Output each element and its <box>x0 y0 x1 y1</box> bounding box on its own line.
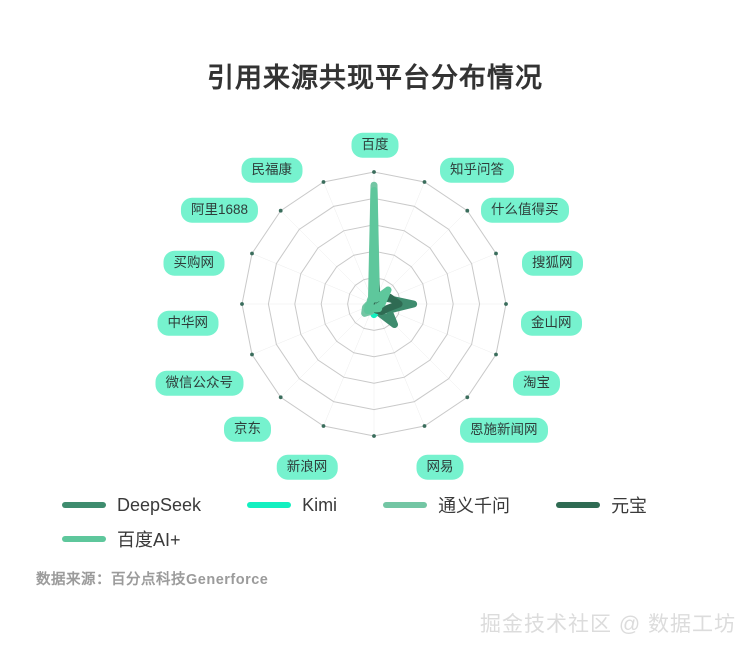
radar-series-百度AI+ <box>367 190 388 310</box>
radar-axis-label-新浪网: 新浪网 <box>277 455 338 480</box>
legend-item-百度AI+[interactable]: 百度AI+ <box>62 526 181 552</box>
radar-axis-label-民福康: 民福康 <box>242 158 303 183</box>
radar-axis-label-网易: 网易 <box>417 455 464 480</box>
legend-item-通义千问[interactable]: 通义千问 <box>383 492 510 518</box>
legend-item-Kimi[interactable]: Kimi <box>247 495 337 516</box>
radar-axis-label-淘宝: 淘宝 <box>513 371 560 396</box>
radar-axis-label-中华网: 中华网 <box>158 311 219 336</box>
legend-swatch-icon <box>383 502 427 508</box>
radar-axis-vertex-dot <box>465 209 469 213</box>
radar-axis-vertex-dot <box>279 209 283 213</box>
radar-axis-label-知乎问答: 知乎问答 <box>440 158 514 183</box>
radar-chart: 百度知乎问答什么值得买搜狐网金山网淘宝恩施新闻网网易新浪网京东微信公众号中华网买… <box>0 118 750 488</box>
radar-axis-label-金山网: 金山网 <box>521 311 582 336</box>
watermark: 掘金技术社区 @ 数据工坊 <box>480 608 736 638</box>
radar-axis-label-什么值得买: 什么值得买 <box>481 198 569 223</box>
chart-legend: DeepSeekKimi通义千问元宝百度AI+ <box>62 492 722 560</box>
radar-axis-vertex-dot <box>504 302 508 306</box>
radar-axis-vertex-dot <box>322 180 326 184</box>
radar-axis-label-京东: 京东 <box>224 417 271 442</box>
radar-axis-vertex-dot <box>372 434 376 438</box>
legend-swatch-icon <box>62 502 106 508</box>
legend-label: Kimi <box>302 495 337 516</box>
legend-item-DeepSeek[interactable]: DeepSeek <box>62 495 201 516</box>
radar-axis-label-搜狐网: 搜狐网 <box>522 251 583 276</box>
legend-swatch-icon <box>247 502 291 508</box>
radar-axis-vertex-dot <box>279 395 283 399</box>
radar-axis-vertex-dot <box>250 252 254 256</box>
legend-label: 百度AI+ <box>117 526 181 552</box>
radar-axis-line <box>281 211 374 304</box>
page-title: 引用来源共现平台分布情况 <box>0 56 750 95</box>
radar-axis-label-恩施新闻网: 恩施新闻网 <box>460 418 548 443</box>
radar-axis-vertex-dot <box>372 170 376 174</box>
legend-label: DeepSeek <box>117 495 201 516</box>
radar-axis-label-微信公众号: 微信公众号 <box>156 371 244 396</box>
legend-label: 通义千问 <box>438 492 510 518</box>
radar-axis-vertex-dot <box>250 353 254 357</box>
radar-chart-svg <box>0 118 750 488</box>
radar-axis-label-百度: 百度 <box>352 133 399 158</box>
infographic-root: 引用来源共现平台分布情况 百度知乎问答什么值得买搜狐网金山网淘宝恩施新闻网网易新… <box>0 0 750 652</box>
radar-axis-vertex-dot <box>494 252 498 256</box>
radar-axis-label-买购网: 买购网 <box>164 251 225 276</box>
radar-axis-vertex-dot <box>465 395 469 399</box>
radar-axis-vertex-dot <box>423 180 427 184</box>
radar-axis-vertex-dot <box>423 424 427 428</box>
radar-axis-label-阿里1688: 阿里1688 <box>181 198 258 223</box>
radar-axis-vertex-dot <box>240 302 244 306</box>
radar-axis-vertex-dot <box>322 424 326 428</box>
legend-label: 元宝 <box>611 492 647 518</box>
radar-axis-vertex-dot <box>494 353 498 357</box>
legend-item-元宝[interactable]: 元宝 <box>556 492 647 518</box>
legend-swatch-icon <box>62 536 106 542</box>
data-source-note: 数据来源：百分点科技Generforce <box>36 568 268 589</box>
radar-axis-line <box>281 304 374 397</box>
legend-swatch-icon <box>556 502 600 508</box>
